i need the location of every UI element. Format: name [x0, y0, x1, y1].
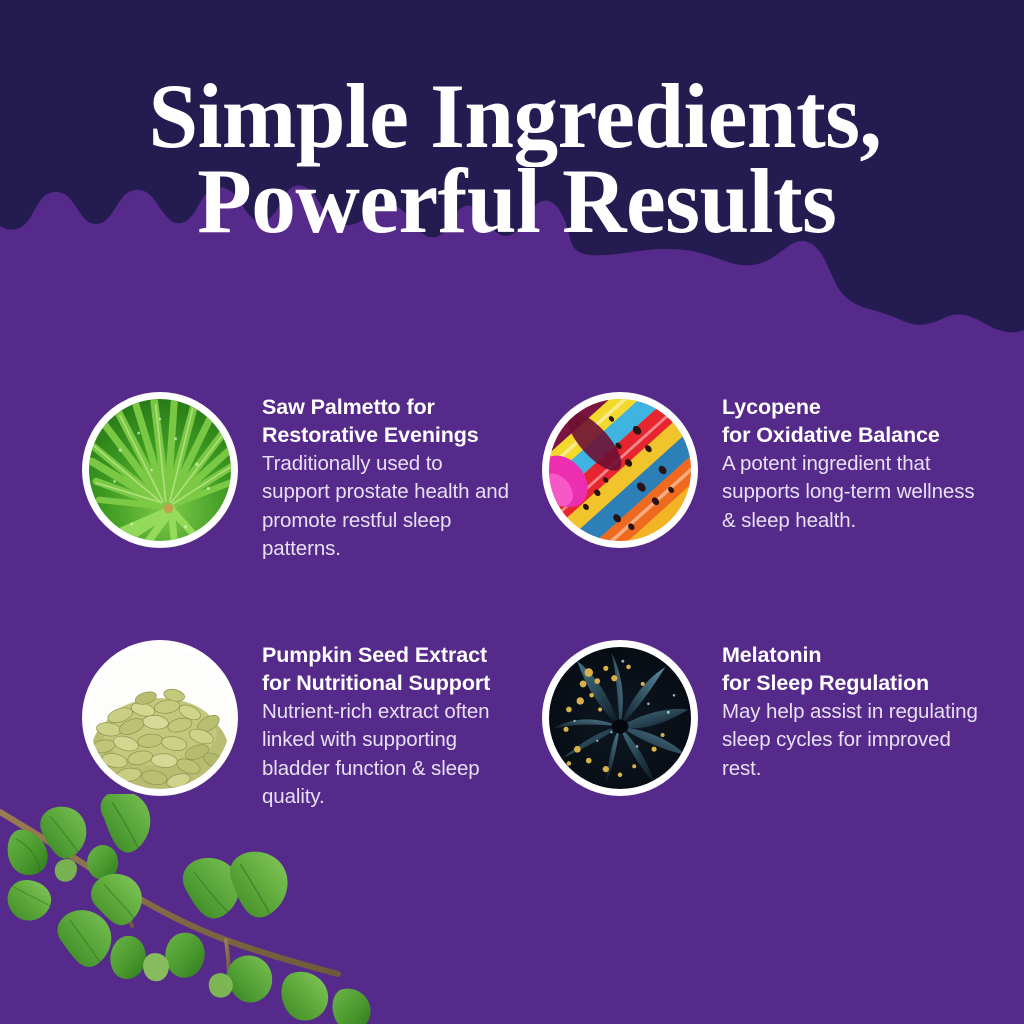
ingredient-title-line-1: Lycopene	[722, 395, 821, 419]
ingredients-infographic-poster: Simple Ingredients, Powerful Results	[0, 0, 1024, 1024]
ingredient-description: Nutrient-rich extract often linked with …	[262, 698, 512, 811]
ingredient-title-line-2: for Sleep Regulation	[722, 671, 929, 695]
ingredient-title-line-1: Pumpkin Seed Extract	[262, 643, 487, 667]
ingredient-thumbnail-ring	[542, 392, 698, 548]
ingredient-title: Melatonin for Sleep Regulation	[722, 642, 980, 697]
pumpkin-seeds-icon	[89, 647, 231, 789]
ingredient-description: A potent ingredient that supports long-t…	[722, 450, 980, 535]
ingredient-thumbnail-ring	[542, 640, 698, 796]
ingredient-text-block: Melatonin for Sleep Regulation May help …	[722, 640, 980, 783]
ingredient-text-block: Pumpkin Seed Extract for Nutritional Sup…	[262, 640, 512, 811]
ingredient-title-line-1: Melatonin	[722, 643, 821, 667]
lycopene-crystal-icon	[549, 399, 691, 541]
ingredient-thumbnail-ring	[82, 640, 238, 796]
ingredient-text-block: Saw Palmetto for Restorative Evenings Tr…	[262, 392, 512, 563]
saw-palmetto-leaf-icon	[89, 399, 231, 541]
ingredient-title: Saw Palmetto for Restorative Evenings	[262, 394, 512, 449]
ingredient-title-line-2: for Oxidative Balance	[722, 423, 940, 447]
ingredient-title: Pumpkin Seed Extract for Nutritional Sup…	[262, 642, 512, 697]
ingredient-item-lycopene: Lycopene for Oxidative Balance A potent …	[542, 392, 980, 548]
melatonin-crystal-icon	[549, 647, 691, 789]
ingredient-item-saw-palmetto: Saw Palmetto for Restorative Evenings Tr…	[82, 392, 512, 563]
ingredient-description: May help assist in regulating sleep cycl…	[722, 698, 980, 783]
ingredient-item-pumpkin-seed: Pumpkin Seed Extract for Nutritional Sup…	[82, 640, 512, 811]
ingredient-title-line-2: Restorative Evenings	[262, 423, 479, 447]
ingredient-thumbnail-ring	[82, 392, 238, 548]
ingredient-title-line-2: for Nutritional Support	[262, 671, 490, 695]
ingredient-title: Lycopene for Oxidative Balance	[722, 394, 980, 449]
ingredient-description: Traditionally used to support prostate h…	[262, 450, 512, 563]
ingredient-title-line-1: Saw Palmetto for	[262, 395, 435, 419]
ingredient-item-melatonin: Melatonin for Sleep Regulation May help …	[542, 640, 980, 796]
ingredients-grid: Saw Palmetto for Restorative Evenings Tr…	[0, 0, 1024, 1024]
ingredient-text-block: Lycopene for Oxidative Balance A potent …	[722, 392, 980, 535]
